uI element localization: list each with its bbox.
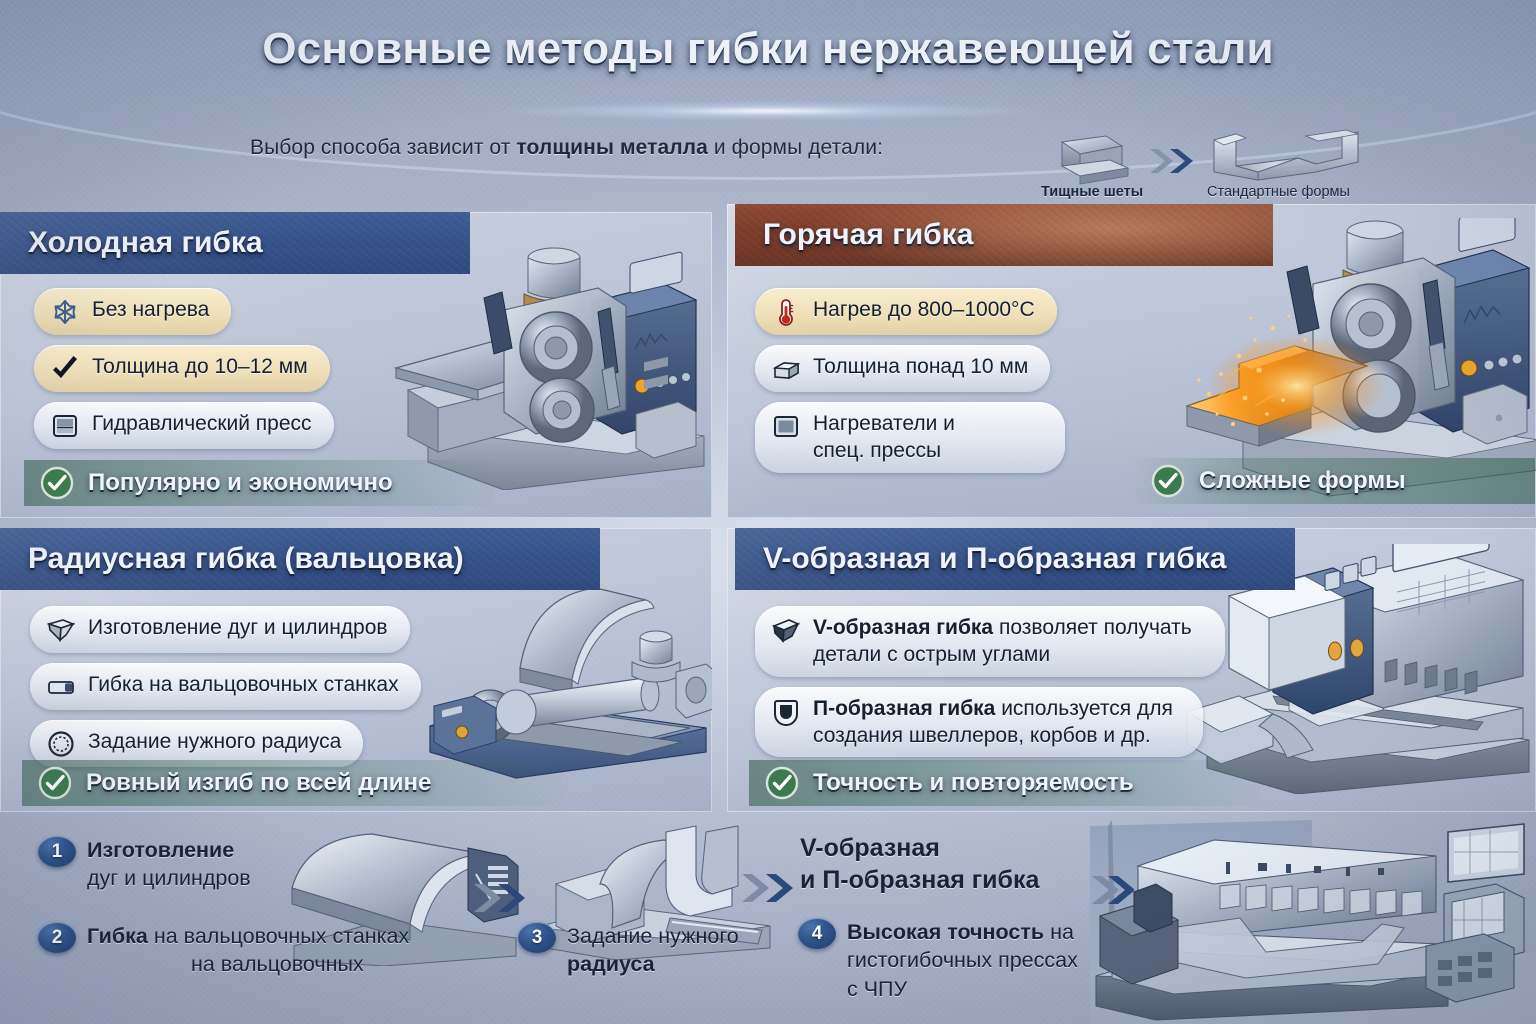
infographic-canvas: Основные методы гибки нержавеющей стали … [0,0,1536,1024]
vignette-overlay [0,0,1536,1024]
